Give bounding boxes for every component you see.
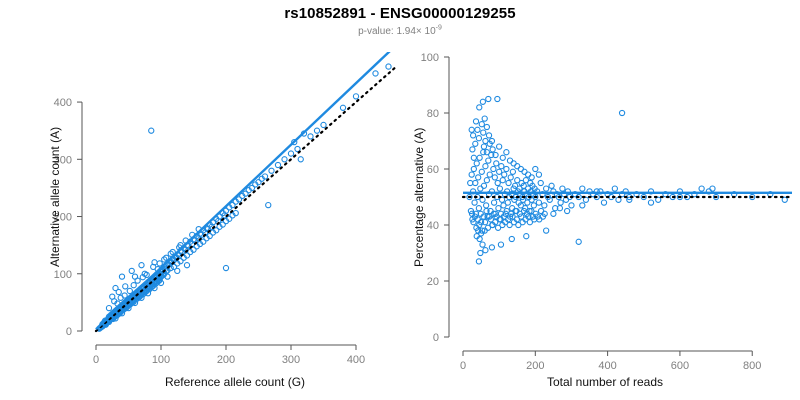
fit-line-left <box>96 46 395 329</box>
data-point <box>266 202 271 207</box>
data-point <box>470 147 475 152</box>
data-point <box>477 105 482 110</box>
data-point <box>495 180 500 185</box>
data-point <box>507 158 512 163</box>
data-point <box>619 110 624 115</box>
data-point <box>484 178 489 183</box>
data-point <box>536 200 541 205</box>
data-point <box>544 186 549 191</box>
x-tick-label-left: 400 <box>347 354 365 366</box>
y-tick-label-right: 100 <box>421 52 439 64</box>
data-point <box>505 200 510 205</box>
y-tick-label-left: 0 <box>66 326 72 338</box>
data-point <box>175 268 180 273</box>
data-point <box>538 208 543 213</box>
x-tick-label-left: 300 <box>282 354 300 366</box>
data-point <box>565 208 570 213</box>
data-layer-left <box>96 46 395 331</box>
data-point <box>491 200 496 205</box>
data-point <box>483 164 488 169</box>
right-y-axis-label: Percentage alternative (A) <box>412 127 426 266</box>
data-point <box>531 203 536 208</box>
x-tick-label-right: 200 <box>526 360 544 372</box>
data-point <box>478 250 483 255</box>
data-point <box>275 162 280 167</box>
data-point <box>648 200 653 205</box>
data-point <box>480 242 485 247</box>
x-tick-label-left: 200 <box>217 354 235 366</box>
data-point <box>486 133 491 138</box>
data-point <box>510 169 515 174</box>
data-point <box>469 172 474 177</box>
data-point <box>479 122 484 127</box>
pvalue-text: p-value: 1.94× 10 <box>358 26 436 37</box>
figure-container: rs10852891 - ENSG00000129255 p-value: 1.… <box>0 0 800 400</box>
data-point <box>536 172 541 177</box>
data-point <box>127 288 132 293</box>
data-point <box>486 96 491 101</box>
data-point <box>525 172 530 177</box>
data-point <box>475 127 480 132</box>
data-point <box>269 168 274 173</box>
panel-right: 0200400600800020406080100 <box>421 52 792 372</box>
data-point <box>576 239 581 244</box>
data-point <box>468 180 473 185</box>
data-point <box>131 283 136 288</box>
left-x-axis-label: Reference allele count (G) <box>60 375 410 389</box>
data-point <box>529 175 534 180</box>
data-point <box>223 265 228 270</box>
data-point <box>116 289 121 294</box>
data-point <box>471 155 476 160</box>
data-point <box>480 99 485 104</box>
data-point <box>504 150 509 155</box>
data-point <box>601 200 606 205</box>
data-point <box>495 96 500 101</box>
data-point <box>560 186 565 191</box>
data-point <box>129 268 134 273</box>
data-point <box>157 261 162 266</box>
data-point <box>486 158 491 163</box>
data-point <box>476 136 481 141</box>
data-point <box>497 144 502 149</box>
data-point <box>515 164 520 169</box>
data-point <box>119 274 124 279</box>
y-tick-label-right: 20 <box>427 276 439 288</box>
right-x-axis-label: Total number of reads <box>420 375 790 389</box>
data-point <box>308 134 313 139</box>
x-tick-label-right: 600 <box>671 360 689 372</box>
data-point <box>502 172 507 177</box>
figure-title: rs10852891 - ENSG00000129255 <box>0 5 800 22</box>
x-tick-label-right: 0 <box>460 360 466 372</box>
data-point <box>474 161 479 166</box>
data-point <box>478 186 483 191</box>
data-point <box>538 180 543 185</box>
data-point <box>511 161 516 166</box>
data-point <box>484 150 489 155</box>
data-point <box>500 178 505 183</box>
data-point <box>353 94 358 99</box>
reference-line-left <box>96 68 395 331</box>
data-point <box>471 166 476 171</box>
data-point <box>483 248 488 253</box>
data-point <box>498 242 503 247</box>
data-point <box>504 166 509 171</box>
x-tick-label-right: 400 <box>598 360 616 372</box>
data-point <box>476 206 481 211</box>
data-point <box>487 172 492 177</box>
data-point <box>135 278 140 283</box>
y-tick-label-left: 100 <box>54 269 72 281</box>
data-point <box>469 127 474 132</box>
data-point <box>490 147 495 152</box>
data-point <box>509 236 514 241</box>
data-point <box>612 186 617 191</box>
data-point <box>494 161 499 166</box>
data-point <box>522 169 527 174</box>
x-tick-label-left: 100 <box>152 354 170 366</box>
left-y-axis-label: Alternative allele count (A) <box>48 126 62 266</box>
data-point <box>477 155 482 160</box>
data-point <box>298 157 303 162</box>
data-point <box>149 128 154 133</box>
data-point <box>473 119 478 124</box>
data-point <box>500 155 505 160</box>
data-point <box>558 200 563 205</box>
data-point <box>499 164 504 169</box>
data-point <box>481 130 486 135</box>
data-point <box>184 263 189 268</box>
data-point <box>508 175 513 180</box>
data-point <box>580 203 585 208</box>
data-point <box>482 116 487 121</box>
data-point <box>542 203 547 208</box>
data-point <box>106 306 111 311</box>
data-point <box>473 141 478 146</box>
data-point <box>476 259 481 264</box>
data-point <box>476 175 481 180</box>
data-layer-right <box>463 96 792 264</box>
data-point <box>496 206 501 211</box>
data-point <box>481 183 486 188</box>
data-point <box>549 183 554 188</box>
panel-left: 01002003004000100200300400 <box>54 46 395 366</box>
data-point <box>314 128 319 133</box>
data-point <box>551 211 556 216</box>
data-point <box>340 105 345 110</box>
y-tick-label-right: 40 <box>427 220 439 232</box>
x-tick-label-right: 800 <box>743 360 761 372</box>
data-point <box>123 284 128 289</box>
data-point <box>484 124 489 129</box>
figure-subtitle-pvalue: p-value: 1.94× 10-9 <box>0 26 800 37</box>
data-point <box>699 186 704 191</box>
data-point <box>481 144 486 149</box>
data-point <box>282 157 287 162</box>
data-point <box>524 234 529 239</box>
data-point <box>533 166 538 171</box>
pvalue-exponent: -9 <box>436 25 442 32</box>
x-tick-label-left: 0 <box>93 354 99 366</box>
data-point <box>506 180 511 185</box>
data-point <box>484 203 489 208</box>
plot-canvas: 0100200300400010020030040002004006008000… <box>0 0 800 400</box>
data-point <box>492 175 497 180</box>
data-point <box>373 71 378 76</box>
y-tick-label-right: 80 <box>427 108 439 120</box>
data-point <box>139 263 144 268</box>
data-point <box>497 169 502 174</box>
y-tick-label-left: 400 <box>54 97 72 109</box>
data-point <box>473 180 478 185</box>
data-point <box>386 64 391 69</box>
data-point <box>491 166 496 171</box>
data-point <box>489 245 494 250</box>
data-point <box>471 133 476 138</box>
y-tick-label-right: 60 <box>427 164 439 176</box>
data-point <box>544 228 549 233</box>
data-point <box>479 169 484 174</box>
data-point <box>569 203 574 208</box>
data-point <box>580 186 585 191</box>
y-tick-label-right: 0 <box>433 332 439 344</box>
data-point <box>518 166 523 171</box>
data-point <box>288 151 293 156</box>
data-point <box>710 186 715 191</box>
data-point <box>472 200 477 205</box>
data-point <box>497 186 502 191</box>
data-point <box>321 122 326 127</box>
